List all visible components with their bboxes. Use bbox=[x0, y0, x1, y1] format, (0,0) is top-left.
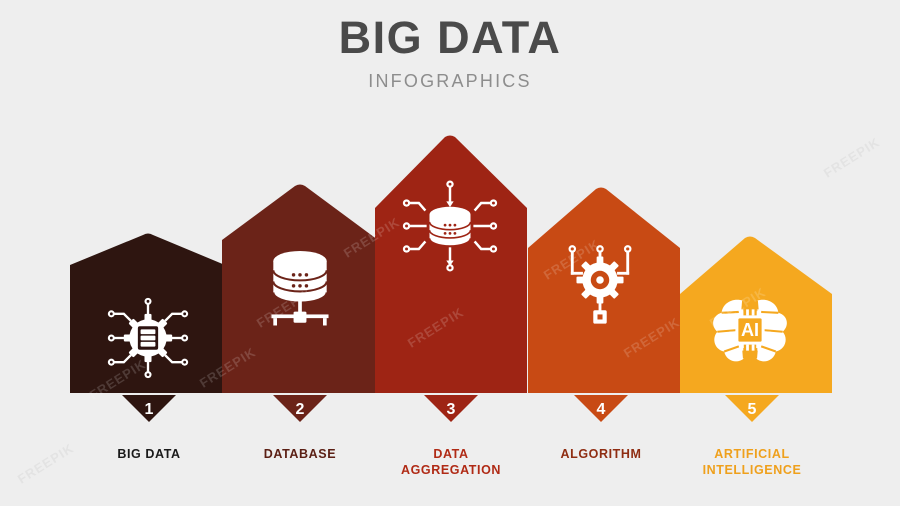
infographic-canvas: BIG DATA INFOGRAPHICS bbox=[0, 0, 900, 506]
step-label-1: BIG DATA bbox=[64, 446, 234, 462]
step-label-1-line1: BIG DATA bbox=[64, 446, 234, 462]
step-label-2: DATABASE bbox=[215, 446, 385, 462]
step-label-4-line1: ALGORITHM bbox=[516, 446, 686, 462]
step-label-3: DATA AGGREGATION bbox=[366, 446, 536, 478]
step-label-5: ARTIFICIAL INTELLIGENCE bbox=[667, 446, 837, 478]
step-label-3-line2: AGGREGATION bbox=[366, 462, 536, 478]
step-label-3-line1: DATA bbox=[366, 446, 536, 462]
step-number-1: 1 bbox=[145, 401, 154, 418]
step-number-2: 2 bbox=[296, 401, 305, 418]
step-number-3: 3 bbox=[447, 401, 456, 418]
step-label-4: ALGORITHM bbox=[516, 446, 686, 462]
step-label-5-line1: ARTIFICIAL bbox=[667, 446, 837, 462]
step-number-5: 5 bbox=[748, 401, 757, 418]
step-pentagon-2[interactable] bbox=[222, 185, 378, 393]
step-label-2-line1: DATABASE bbox=[215, 446, 385, 462]
step-number-4: 4 bbox=[597, 401, 606, 418]
step-pentagon-4[interactable] bbox=[528, 188, 680, 393]
step-marker-5[interactable]: 5 bbox=[725, 395, 779, 422]
pentagon-shape-5 bbox=[680, 237, 832, 393]
step-pentagon-3[interactable] bbox=[375, 136, 527, 393]
step-marker-2[interactable]: 2 bbox=[273, 395, 327, 422]
step-marker-1[interactable]: 1 bbox=[122, 395, 176, 422]
pentagon-band: AI bbox=[0, 0, 900, 506]
step-marker-4[interactable]: 4 bbox=[574, 395, 628, 422]
step-pentagon-5[interactable] bbox=[680, 237, 832, 393]
step-pentagon-1[interactable] bbox=[70, 234, 225, 393]
step-marker-3[interactable]: 3 bbox=[424, 395, 478, 422]
step-label-5-line2: INTELLIGENCE bbox=[667, 462, 837, 478]
